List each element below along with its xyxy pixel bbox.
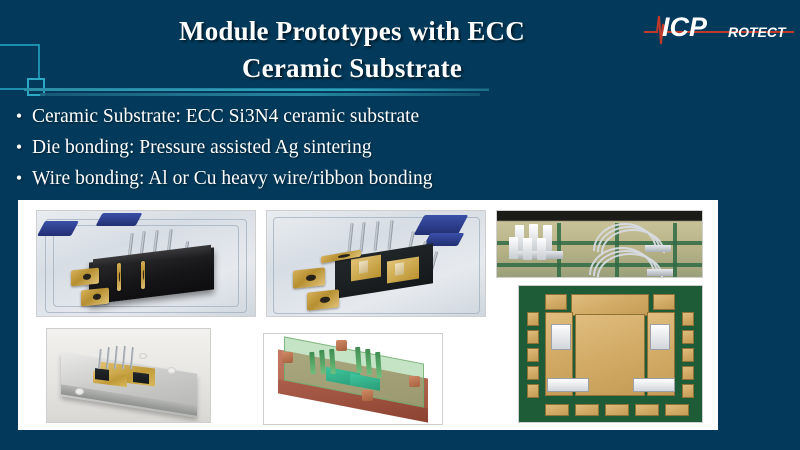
sintered-die-right — [650, 324, 670, 350]
terminal-3d — [409, 376, 420, 387]
copper-pad-top-left — [545, 294, 567, 310]
semiconductor-die — [95, 368, 109, 381]
bullet-text-2: Die bonding: Pressure assisted Ag sinter… — [32, 135, 372, 160]
list-item: • Ceramic Substrate: ECC Si3N4 ceramic s… — [6, 104, 706, 129]
bond-pad — [647, 269, 673, 276]
copper-pad-bottom — [575, 404, 599, 416]
copper-pad-small — [527, 384, 539, 398]
semiconductor-die — [133, 372, 149, 384]
mounting-hole — [75, 388, 84, 395]
vertical-chip — [537, 238, 546, 260]
logo-sub-text: ROTECT — [728, 24, 787, 40]
slide-canvas: Module Prototypes with ECC Ceramic Subst… — [0, 0, 800, 450]
gold-trace — [141, 261, 145, 290]
sintered-die-bottom-right — [633, 378, 675, 392]
semiconductor-die — [395, 262, 404, 275]
copper-pad-bottom — [665, 404, 689, 416]
copper-pad-top-center — [571, 294, 649, 316]
figure-ribbon-bonds-closeup — [496, 210, 703, 278]
figure-cad-3d-render — [263, 333, 443, 425]
title-divider-line-lower — [40, 93, 480, 96]
logo-svg: ICP ROTECT — [644, 6, 794, 48]
copper-pad-small — [682, 384, 694, 398]
blue-clip-b — [96, 213, 143, 226]
copper-pad-small — [527, 348, 539, 362]
copper-pad-bottom — [635, 404, 659, 416]
copper-pad-small — [527, 312, 539, 326]
figure-panel — [18, 200, 718, 430]
copper-pad-small — [682, 330, 694, 344]
copper-pad-small — [527, 330, 539, 344]
terminal-3d — [282, 352, 293, 363]
title-line-1: Module Prototypes with ECC — [72, 13, 632, 50]
gold-terminal-tab — [81, 288, 109, 307]
logo-main-text: ICP — [662, 12, 708, 42]
icprotect-logo: ICP ROTECT — [644, 6, 794, 48]
title-divider-line-upper — [24, 88, 489, 91]
copper-pad-small — [682, 312, 694, 326]
figure-module-open-interior — [266, 210, 486, 317]
gold-terminal-tab — [307, 289, 339, 310]
copper-pad-small — [682, 366, 694, 380]
bullet-marker-icon: • — [6, 166, 32, 191]
vertical-chip — [523, 238, 532, 260]
list-item: • Die bonding: Pressure assisted Ag sint… — [6, 135, 706, 160]
gold-terminal-tab — [71, 268, 99, 287]
sintered-die-left — [551, 324, 571, 350]
bullet-marker-icon: • — [6, 135, 32, 160]
mounting-hole — [139, 353, 147, 359]
bullet-marker-icon: • — [6, 104, 32, 129]
copper-pad-small — [682, 348, 694, 362]
bullet-list: • Ceramic Substrate: ECC Si3N4 ceramic s… — [6, 104, 706, 197]
mounting-hole — [167, 367, 176, 374]
bullet-text-1: Ceramic Substrate: ECC Si3N4 ceramic sub… — [32, 104, 419, 129]
gold-trace — [117, 263, 121, 292]
copper-pad-bottom — [545, 404, 569, 416]
figure-ceramic-substrate-topview — [518, 285, 703, 423]
vertical-chip — [509, 237, 518, 259]
page-title: Module Prototypes with ECC Ceramic Subst… — [72, 13, 632, 88]
copper-pad-small — [527, 366, 539, 380]
terminal-3d — [362, 390, 373, 401]
gold-terminal-tab — [293, 267, 325, 288]
figure-module-black-packaged — [36, 210, 256, 317]
sintered-die-bottom-left — [547, 378, 589, 392]
copper-pad-top-right — [653, 294, 675, 310]
terminal-3d — [336, 340, 347, 351]
figure-module-on-baseplate — [46, 328, 211, 423]
title-line-2: Ceramic Substrate — [72, 50, 632, 87]
semiconductor-die — [359, 260, 368, 273]
copper-pad-bottom — [605, 404, 629, 416]
ceramic-channel — [673, 223, 677, 278]
list-item: • Wire bonding: Al or Cu heavy wire/ribb… — [6, 166, 706, 191]
bond-pad — [645, 245, 671, 252]
bullet-text-3: Wire bonding: Al or Cu heavy wire/ribbon… — [32, 166, 433, 191]
